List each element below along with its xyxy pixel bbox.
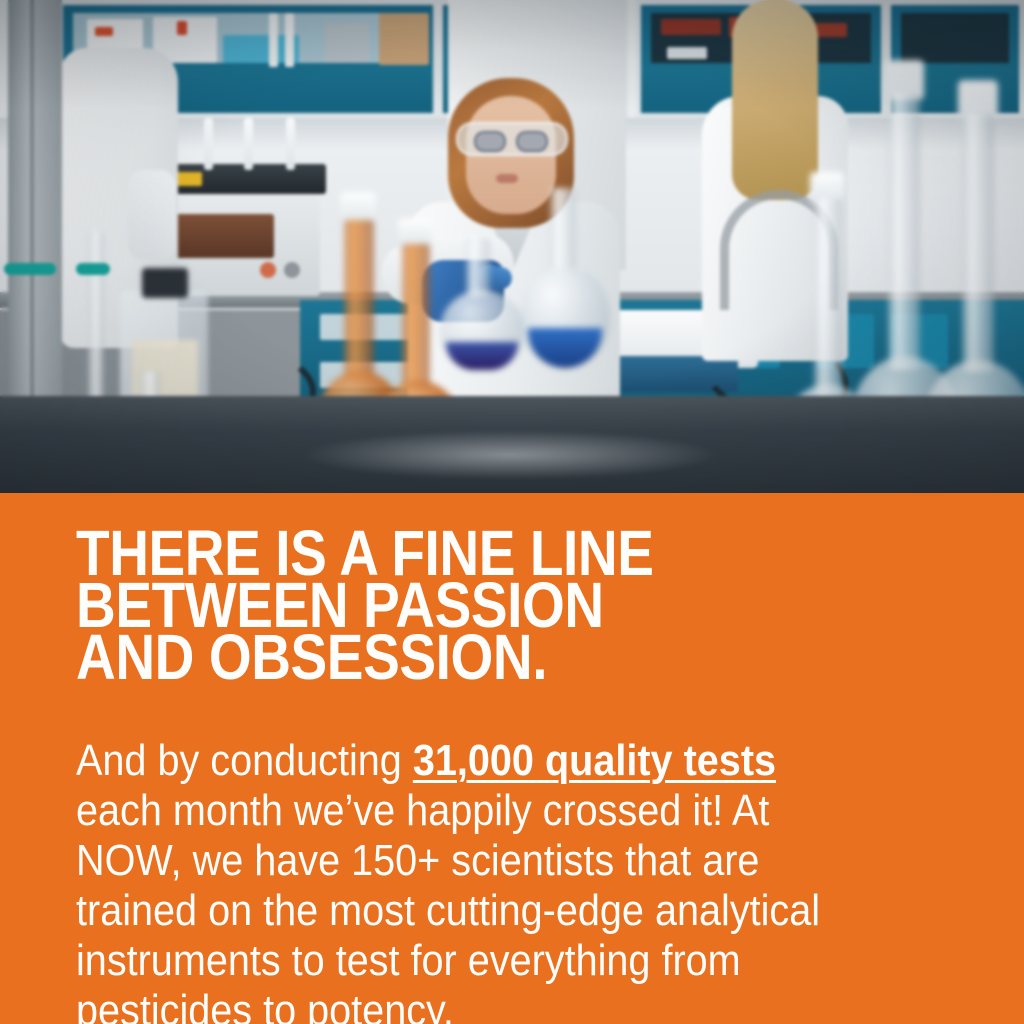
flask-neck [962, 114, 994, 372]
cabinet-glass-door [901, 13, 1009, 63]
headline: THERE IS A FINE LINE BETWEEN PASSION AND… [76, 527, 833, 683]
headline-line-3: AND OBSESSION. [76, 631, 833, 683]
blue-liquid [528, 328, 602, 368]
stat-emphasis: 31,000 quality tests [413, 736, 776, 785]
flask-neck [402, 244, 430, 390]
bench-reflection [300, 430, 720, 480]
bottle-cap [142, 268, 188, 298]
shelf-carton [379, 13, 429, 65]
frame-post [8, 0, 62, 420]
goggle-lens-left [474, 131, 506, 152]
body-copy: And by conducting 31,000 quality tests e… [76, 736, 868, 1024]
flask-neck [550, 188, 576, 274]
erlenmeyer-flask-blue-small [440, 238, 524, 370]
instrument-knob [284, 262, 300, 278]
test-tube [286, 118, 295, 170]
shelf-box [325, 23, 369, 63]
post-groove [30, 0, 34, 420]
flask-neck [814, 198, 842, 396]
scientist-mouth [496, 174, 518, 183]
flask-neck [888, 94, 920, 370]
shelf-label-red [95, 27, 113, 36]
social-graphic-canvas: 500 THERE IS A FINE LINE BETWEEN PASSION… [0, 0, 1024, 1024]
blonde-hair [732, 0, 818, 200]
test-tube [204, 118, 213, 170]
teal-accent-bar [4, 263, 56, 275]
safety-goggles [456, 122, 568, 156]
shelf-bottle [285, 13, 294, 67]
instrument-display [166, 214, 274, 258]
body-text-part-2: each month we’ve happily crossed it! At … [76, 786, 820, 1024]
blue-liquid [446, 342, 518, 370]
scientist-left-arm [128, 170, 176, 260]
teal-accent-bar [76, 263, 110, 275]
body-text-part-1: And by conducting [76, 736, 413, 785]
shelf-label-red [177, 21, 187, 35]
flask-neck [344, 220, 374, 380]
goggle-lens-right [516, 131, 548, 152]
instrument-indicator [260, 262, 276, 278]
erlenmeyer-flask-blue [520, 188, 610, 368]
lab-photo: 500 [0, 0, 1024, 493]
shelf-bottle [269, 13, 278, 67]
test-tube [244, 118, 253, 170]
flask-neck [466, 238, 490, 296]
